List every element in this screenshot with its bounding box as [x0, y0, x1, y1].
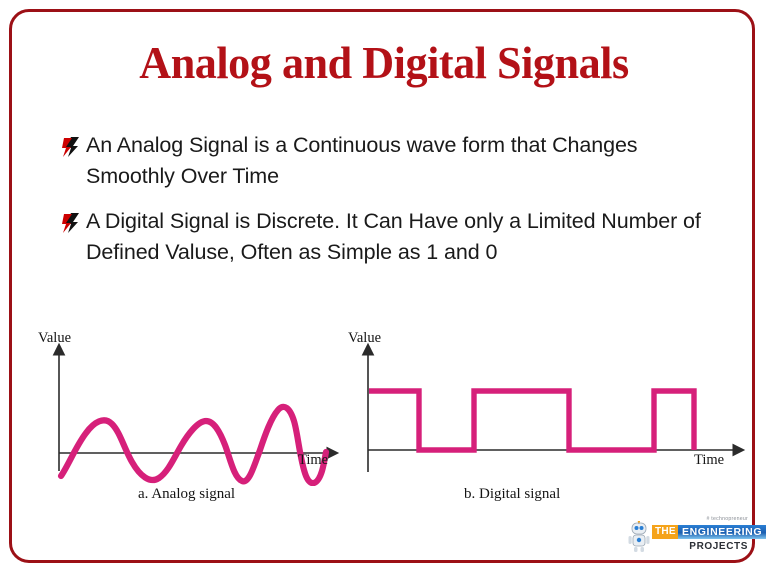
- digital-figure-caption: b. Digital signal: [464, 486, 560, 503]
- slide-canvas: Analog and Digital Signals An Analog Sig…: [0, 0, 768, 576]
- lightning-bolt-bullet-icon: [62, 212, 80, 234]
- logo-word-projects: PROJECTS: [689, 541, 748, 552]
- analog-figure-caption: a. Analog signal: [138, 486, 235, 503]
- list-item-label: A Digital Signal is Discrete. It Can Hav…: [86, 206, 702, 268]
- analog-signal-figure: Value Time a. Analog signal: [28, 326, 348, 516]
- logo-word-the: THE: [652, 525, 679, 539]
- list-item-label: An Analog Signal is a Continuous wave fo…: [86, 130, 702, 192]
- lightning-bolt-bullet-icon: [62, 136, 80, 158]
- the-engineering-projects-logo[interactable]: # technopreneur THE ENGINEERING PROJECTS: [628, 516, 750, 558]
- list-item: A Digital Signal is Discrete. It Can Hav…: [62, 206, 702, 268]
- robot-icon: [628, 521, 650, 558]
- digital-signal-plot: [334, 326, 754, 486]
- digital-waveform-line: [369, 391, 694, 450]
- list-item: An Analog Signal is a Continuous wave fo…: [62, 130, 702, 192]
- logo-tagline: # technopreneur: [706, 516, 748, 522]
- analog-x-axis-label: Time: [298, 452, 328, 469]
- page-title: Analog and Digital Signals: [15, 36, 752, 89]
- analog-y-axis-label: Value: [38, 330, 71, 347]
- bullet-list: An Analog Signal is a Continuous wave fo…: [62, 130, 702, 282]
- logo-word-engineering: ENGINEERING: [678, 525, 766, 539]
- analog-waveform-line: [61, 407, 326, 483]
- digital-signal-figure: Value Time b. Digital signal: [334, 326, 754, 516]
- digital-y-axis-label: Value: [348, 330, 381, 347]
- digital-x-axis-label: Time: [694, 452, 724, 469]
